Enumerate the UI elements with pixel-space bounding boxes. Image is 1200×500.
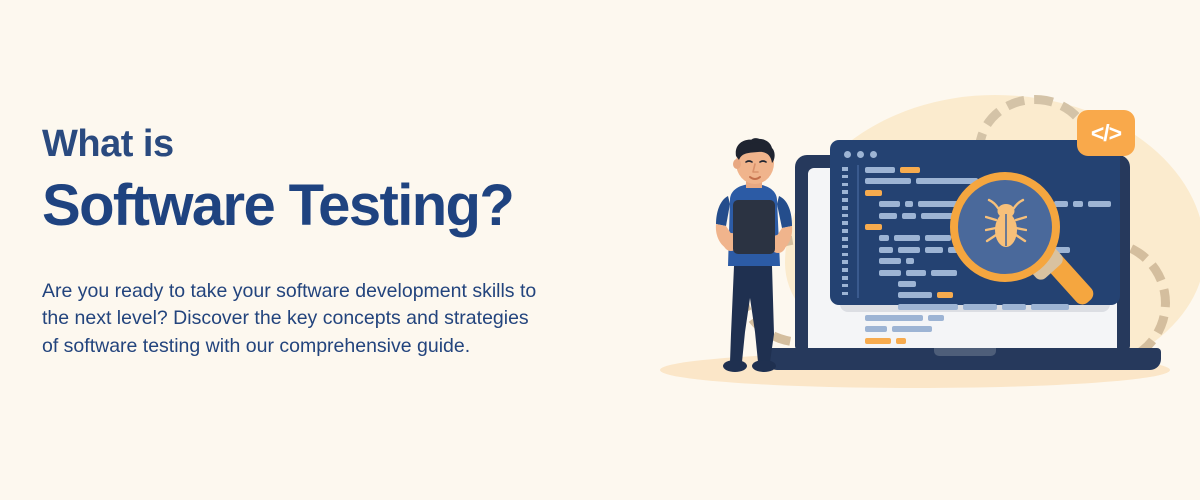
code-token-keyword [937, 292, 953, 298]
code-token [902, 213, 916, 219]
code-token [905, 201, 913, 207]
code-line [865, 304, 1111, 310]
code-token [898, 292, 932, 298]
code-line [865, 338, 1111, 344]
line-marker [842, 253, 848, 257]
line-marker [842, 292, 848, 296]
line-marker [842, 198, 848, 202]
line-marker [842, 175, 848, 179]
code-token [928, 315, 944, 321]
code-token [898, 281, 916, 287]
line-marker [842, 167, 848, 171]
code-token [906, 258, 914, 264]
line-number-gutter [842, 167, 850, 295]
code-token [898, 304, 958, 310]
code-token-keyword [865, 190, 882, 196]
bug-icon [985, 198, 1027, 250]
line-marker [842, 260, 848, 264]
code-token [879, 270, 901, 276]
hero-banner: What is Software Testing? Are you ready … [0, 0, 1200, 500]
line-marker [842, 245, 848, 249]
code-token [963, 304, 997, 310]
code-token [1031, 304, 1069, 310]
code-token [879, 247, 893, 253]
code-token [1073, 201, 1083, 207]
code-token [894, 235, 920, 241]
person-illustration [700, 138, 815, 378]
code-token [865, 326, 887, 332]
code-token [898, 247, 920, 253]
code-token-keyword [865, 338, 891, 344]
line-marker [842, 214, 848, 218]
subcopy-line-1: Are you ready to take your software deve… [42, 278, 642, 306]
line-marker [842, 183, 848, 187]
code-token [931, 270, 957, 276]
code-token [925, 235, 951, 241]
code-tag-icon: </> [1077, 110, 1135, 156]
code-token [865, 178, 911, 184]
line-marker [842, 276, 848, 280]
hero-subcopy: Are you ready to take your software deve… [42, 278, 642, 361]
hero-eyebrow: What is [42, 125, 662, 165]
code-token [916, 178, 978, 184]
hero-text-column: What is Software Testing? Are you ready … [42, 125, 662, 361]
gutter-divider [857, 165, 859, 298]
code-token [925, 247, 943, 253]
code-token [879, 201, 900, 207]
code-token-keyword [900, 167, 920, 173]
code-token [879, 213, 897, 219]
window-control-dots [844, 151, 877, 158]
line-marker [842, 229, 848, 233]
code-token [1002, 304, 1026, 310]
code-token [906, 270, 926, 276]
code-token [879, 258, 901, 264]
subcopy-line-3: of software testing with our comprehensi… [42, 333, 642, 361]
hero-illustration: </> [640, 0, 1200, 500]
code-line [865, 315, 1111, 321]
code-token-keyword [865, 224, 882, 230]
code-token [1088, 201, 1111, 207]
window-dot [844, 151, 851, 158]
line-marker [842, 190, 848, 194]
code-line [865, 167, 1111, 173]
window-dot [870, 151, 877, 158]
window-dot [857, 151, 864, 158]
line-marker [842, 237, 848, 241]
code-token [865, 167, 895, 173]
subcopy-line-2: the next level? Discover the key concept… [42, 305, 642, 333]
code-token-keyword [896, 338, 906, 344]
line-marker [842, 206, 848, 210]
code-token [865, 315, 923, 321]
line-marker [842, 268, 848, 272]
hero-headline: Software Testing? [42, 175, 662, 238]
code-token [879, 235, 889, 241]
code-line [865, 326, 1111, 332]
line-marker [842, 284, 848, 288]
line-marker [842, 221, 848, 225]
code-token [892, 326, 932, 332]
